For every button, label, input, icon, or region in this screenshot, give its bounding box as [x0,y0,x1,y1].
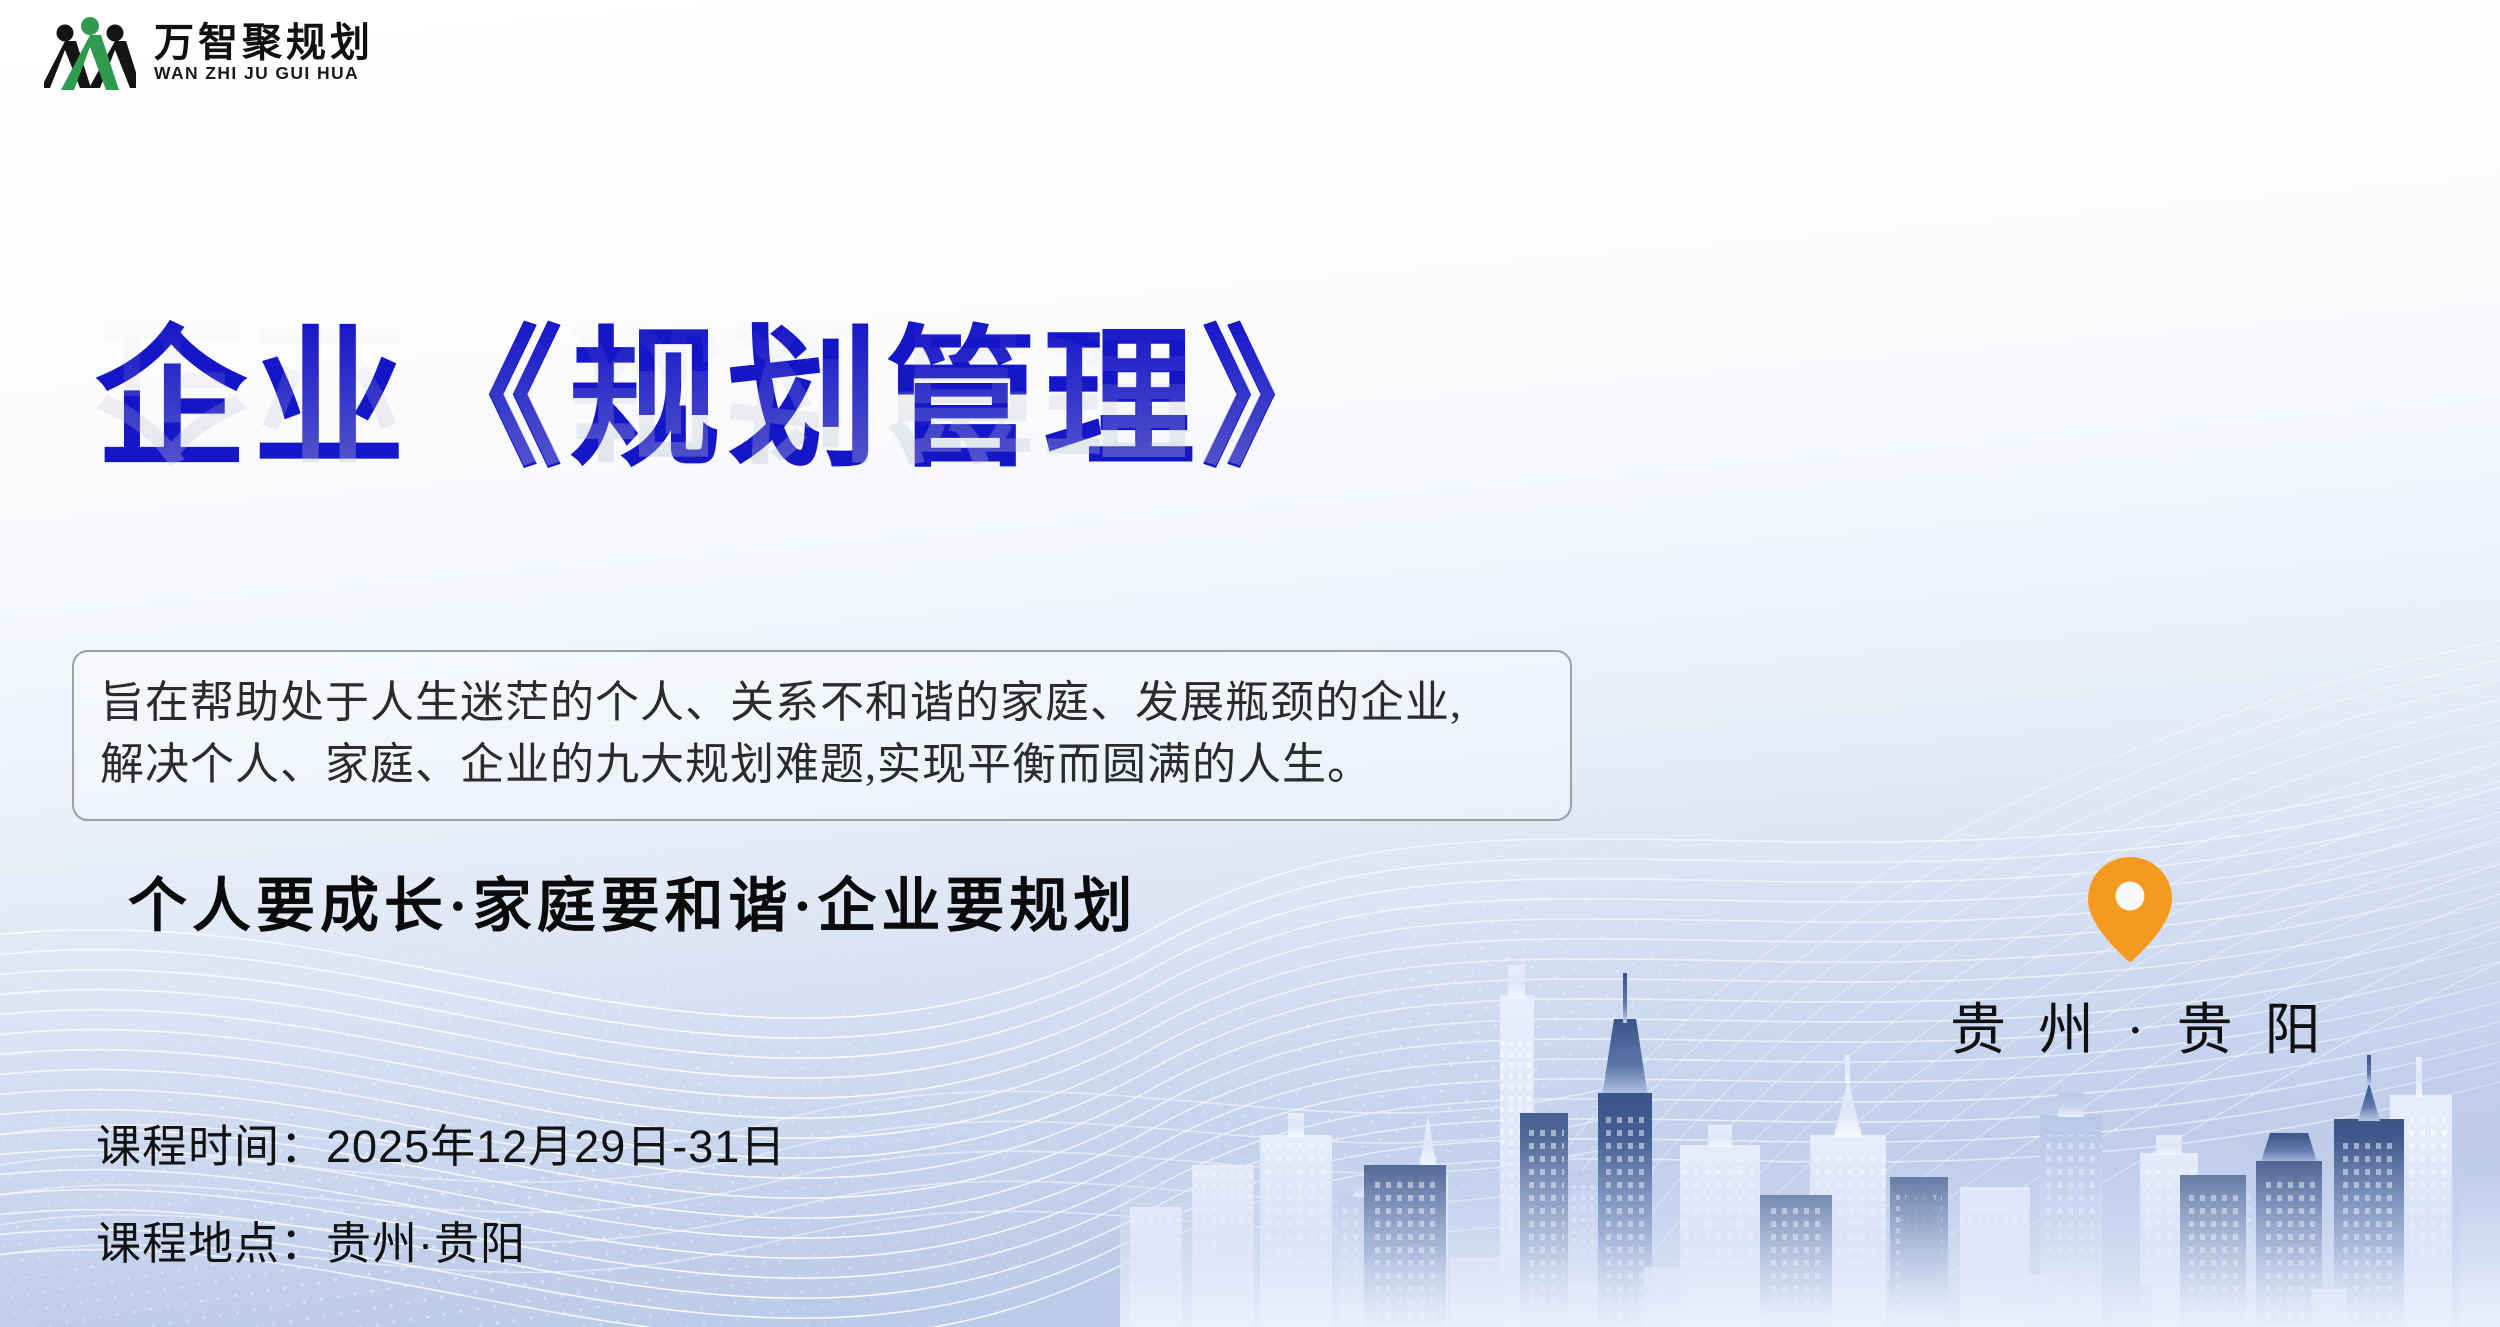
promo-banner: 万智聚规划 WAN ZHI JU GUI HUA 企业《规划管理》 企业《规划管… [0,0,2500,1327]
location-label: 贵 州 · 贵 阳 [1950,985,2310,1066]
location-marker-group: 贵 州 · 贵 阳 [1950,855,2310,1066]
description-box: 旨在帮助处于人生迷茫的个人、关系不和谐的家庭、发展瓶颈的企业, 解决个人、家庭、… [72,650,1572,821]
description-line-1: 旨在帮助处于人生迷茫的个人、关系不和谐的家庭、发展瓶颈的企业, [100,672,1544,734]
slogan-text: 个人要成长·家庭要和谐·企业要规划 [128,858,1137,943]
course-details: 课程时间：2025年12月29日-31日 课程地点：贵州·贵阳 [96,1110,786,1272]
course-location: 课程地点：贵州·贵阳 [96,1207,786,1272]
logo-pinyin-name: WAN ZHI JU GUI HUA [154,65,374,83]
brand-logo[interactable]: 万智聚规划 WAN ZHI JU GUI HUA [44,14,374,92]
course-time: 课程时间：2025年12月29日-31日 [96,1110,786,1175]
main-title-reflection: 企业《规划管理》 [95,304,1359,468]
three-people-logo-icon [44,14,136,92]
map-pin-icon [2086,855,2174,963]
logo-chinese-name: 万智聚规划 [154,23,374,63]
description-line-2: 解决个人、家庭、企业的九大规划难题,实现平衡而圆满的人生。 [100,734,1544,796]
headline-group: 企业《规划管理》 企业《规划管理》 [95,318,1359,632]
logo-wordmark: 万智聚规划 WAN ZHI JU GUI HUA [154,23,374,83]
